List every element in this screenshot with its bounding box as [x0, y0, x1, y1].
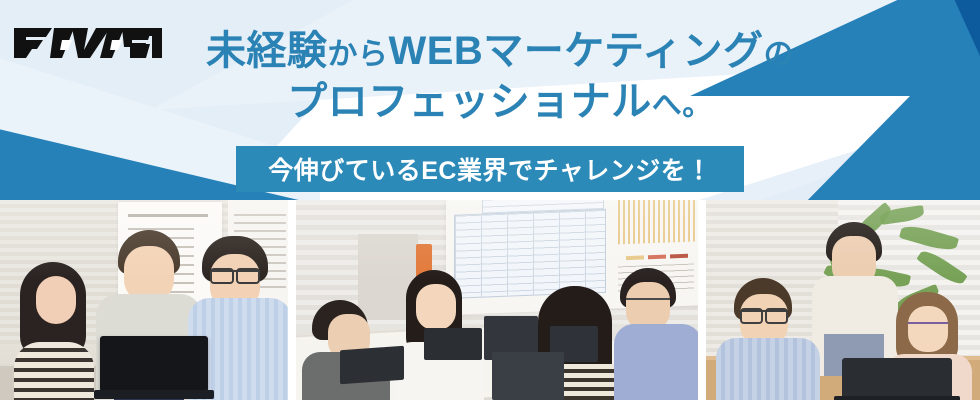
sub-banner: 今伸びているEC業界でチャレンジを！: [236, 146, 744, 192]
sub-banner-text: 今伸びているEC業界でチャレンジを！: [268, 151, 711, 187]
headline: 未経験からWEBマーケティングの プロフェッショナルへ。: [150, 28, 850, 126]
headline-line-2-part-2: へ。: [652, 89, 713, 122]
favari-logo[interactable]: [12, 20, 162, 60]
favari-logo-icon: [12, 20, 162, 60]
photo-office-laptop-trio: [0, 200, 288, 400]
headline-line-2: プロフェッショナルへ。: [150, 79, 850, 126]
headline-line-1: 未経験からWEBマーケティングの: [150, 28, 850, 75]
photo-desk-discussion-trio: [706, 200, 980, 400]
headline-line-1-part-4: の: [764, 38, 795, 71]
photo3-overlay: [706, 200, 980, 400]
headline-line-1-part-2: から: [327, 38, 388, 71]
photo-divider-2: [698, 200, 706, 400]
banner-header-area: 未経験からWEBマーケティングの プロフェッショナルへ。 今伸びているEC業界で…: [0, 0, 980, 200]
recruit-banner: 未経験からWEBマーケティングの プロフェッショナルへ。 今伸びているEC業界で…: [0, 0, 980, 400]
photo-strip: [0, 200, 980, 400]
headline-line-1-part-1: 未経験: [206, 29, 328, 73]
headline-line-2-part-1: プロフェッショナル: [287, 80, 652, 124]
photo2-overlay: [296, 200, 698, 400]
headline-line-1-part-3: WEBマーケティング: [388, 29, 763, 73]
photo-meeting-room-presentation: [296, 200, 698, 400]
photo-divider-1: [288, 200, 296, 400]
photo1-overlay: [0, 200, 288, 400]
